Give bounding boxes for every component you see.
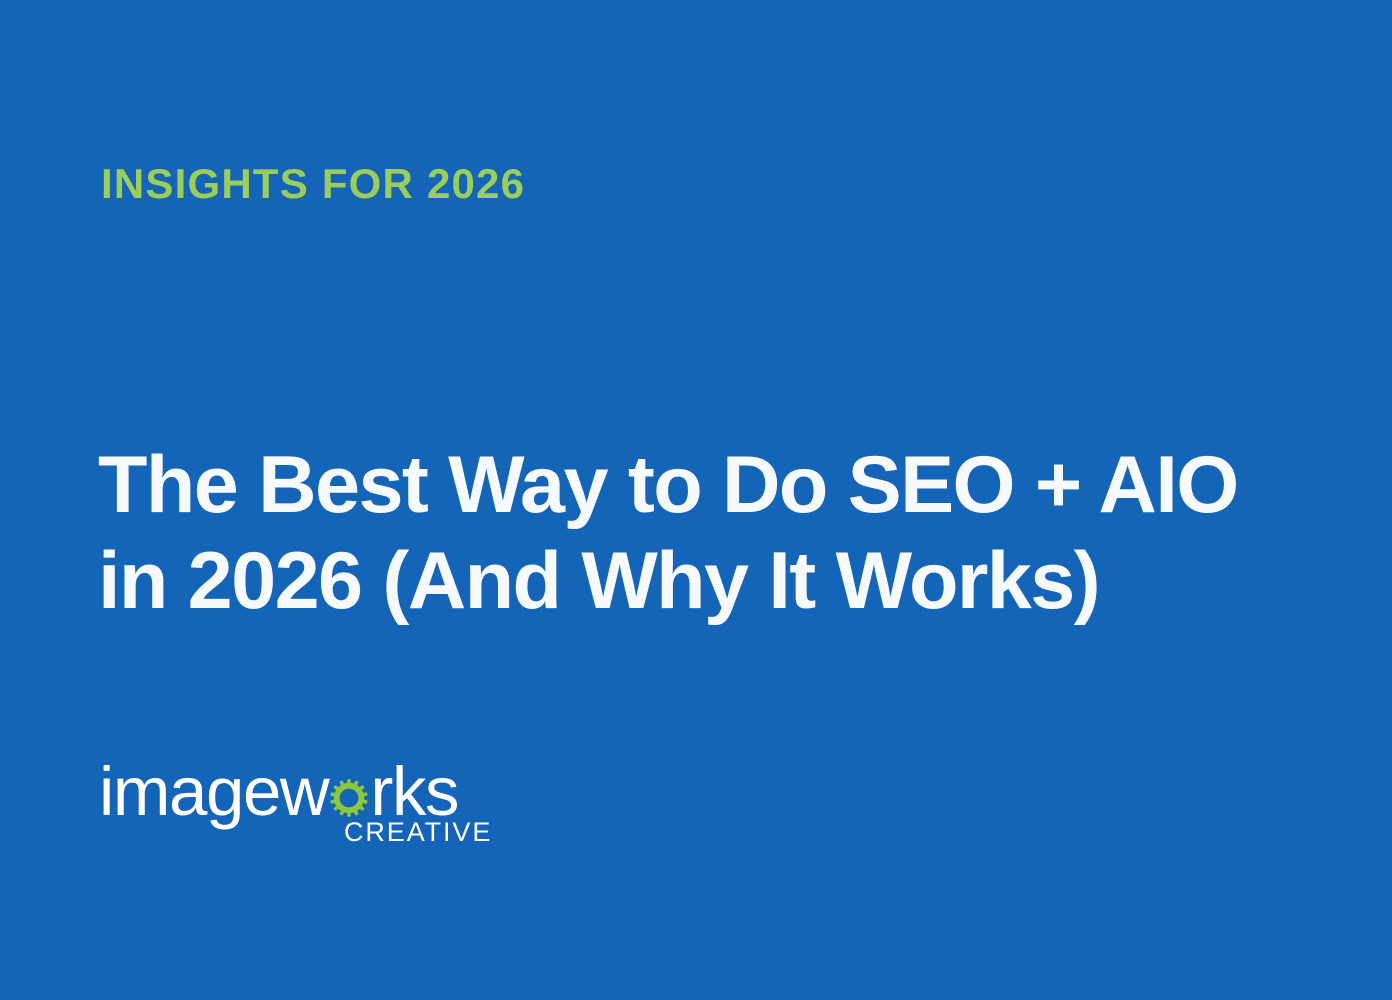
headline-line-1: The Best Way to Do SEO + AIO [98,437,1278,533]
slide-eyebrow: INSIGHTS FOR 2026 [101,163,525,205]
imageworks-creative-logo: imagew [99,757,479,857]
logo-wordmark: imagew [99,757,479,826]
logo-wordmark-before-gear: imagew [99,753,328,830]
slide-headline: The Best Way to Do SEO + AIO in 2026 (An… [98,437,1278,629]
gear-icon [329,778,369,818]
logo-tagline: CREATIVE [344,819,492,846]
title-slide: INSIGHTS FOR 2026 The Best Way to Do SEO… [0,0,1392,1000]
headline-line-2: in 2026 (And Why It Works) [98,533,1278,629]
